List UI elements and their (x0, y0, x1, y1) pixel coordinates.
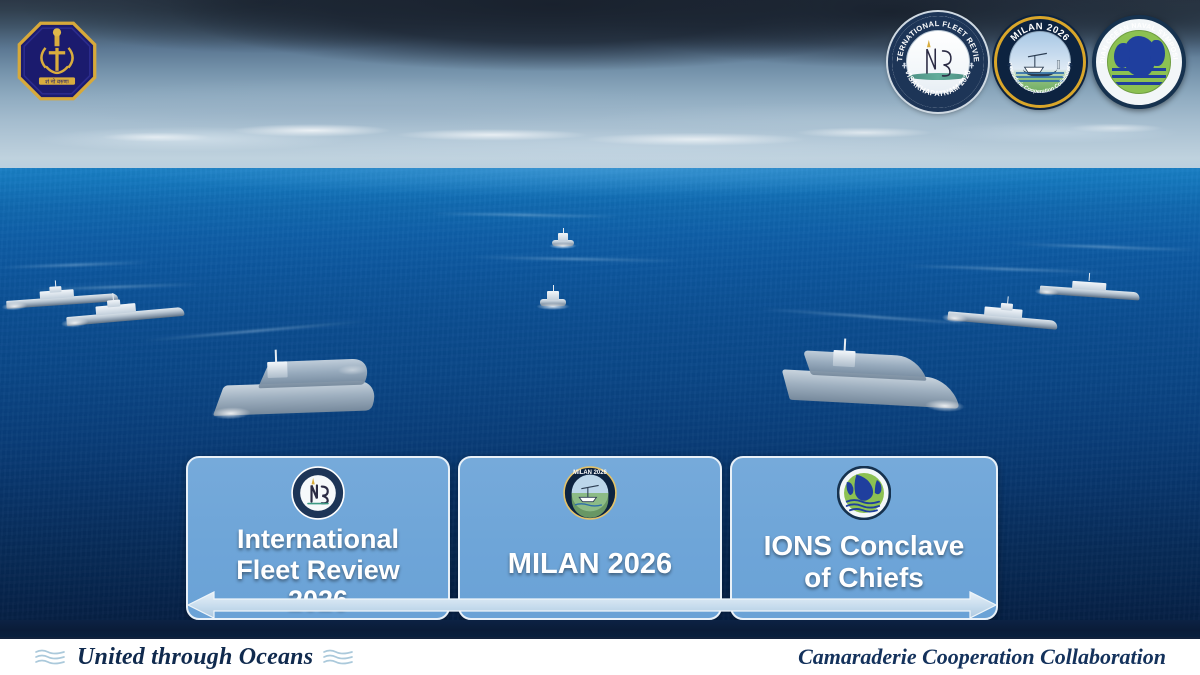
event-card-title: MILAN 2026 (502, 548, 678, 581)
ions-logo-icon: INDIAN OCEAN NAVAL SYMPOSIUM (1092, 15, 1186, 109)
footer-bar: United through Oceans Camaraderie Cooper… (0, 637, 1200, 675)
poster-stage: शं नो वरुणः INTERNATIONAL FLEET REVIEW V… (0, 0, 1200, 675)
event-card-row: International Fleet Review 2026 MILAN 20… (186, 456, 998, 620)
international-fleet-review-logo-icon: INTERNATIONAL FLEET REVIEW VISAKHAPATNAM… (888, 12, 988, 112)
event-card-title: International Fleet Review 2026 (230, 524, 406, 616)
event-card-title-line: MILAN 2026 (508, 548, 672, 581)
milan-badge-label: MILAN 2026 (573, 470, 607, 476)
event-card-title-line: International (236, 524, 400, 555)
wave-lines-icon (34, 648, 68, 666)
event-card-title-line: Fleet Review (236, 555, 400, 586)
event-card-ions-conclave[interactable]: IONS Conclave of Chiefs (730, 456, 998, 620)
event-card-title-line: IONS Conclave (764, 530, 965, 562)
header-logo-row: INTERNATIONAL FLEET REVIEW VISAKHAPATNAM… (888, 12, 1186, 112)
aircraft-carrier-right (784, 336, 958, 429)
ions-arc-top-text: INDIAN OCEAN NAVAL SYMPOSIUM (1096, 19, 1178, 64)
wisp-cloud-layer (0, 108, 1200, 164)
milan-arc-top-text: MILAN 2026 (1009, 21, 1072, 43)
milan-2026-logo-icon: MILAN 2026 Camaraderie Cooperation Colla… (994, 16, 1086, 108)
svg-text:VISAKHAPATNAM 2026: VISAKHAPATNAM 2026 (903, 69, 973, 99)
event-card-title: IONS Conclave of Chiefs (758, 530, 971, 593)
ions-logo-icon (837, 466, 891, 520)
svg-text:INDIAN OCEAN NAVAL SYMPOSIU: INDIAN OCEAN NAVAL SYMPOSIUM (1096, 19, 1178, 64)
frigate-center-near (540, 286, 566, 308)
footer-tagline-right: Camaraderie Cooperation Collaboration (798, 644, 1166, 670)
footer-navy-band (0, 620, 1200, 637)
svg-text:MILAN 2026: MILAN 2026 (1009, 21, 1072, 43)
event-card-title-line: of Chiefs (764, 562, 965, 594)
wave-lines-icon (322, 648, 356, 666)
ifr-arc-top-text: INTERNATIONAL FLEET REVIEW (892, 16, 981, 63)
international-fleet-review-logo-icon (291, 466, 345, 520)
frigate-center-far (552, 228, 574, 248)
event-card-milan-2026[interactable]: MILAN 2026 MILAN 2026 (458, 456, 722, 620)
footer-tagline-left: United through Oceans (77, 644, 313, 671)
event-card-title-line: 2026 (236, 585, 400, 616)
footer-left-group: United through Oceans (34, 644, 356, 671)
indian-navy-crest-icon: शं नो वरुणः (16, 20, 98, 102)
navy-motto-text: शं नो वरुणः (45, 78, 70, 86)
ifr-arc-bottom-text: VISAKHAPATNAM 2026 (903, 69, 973, 99)
svg-text:INTERNATIONAL FLEET REVIEW: INTERNATIONAL FLEET REVIEW (892, 16, 981, 63)
milan-2026-logo-icon: MILAN 2026 (563, 466, 617, 520)
event-card-international-fleet-review[interactable]: International Fleet Review 2026 (186, 456, 450, 620)
aircraft-carrier-left (217, 342, 378, 431)
